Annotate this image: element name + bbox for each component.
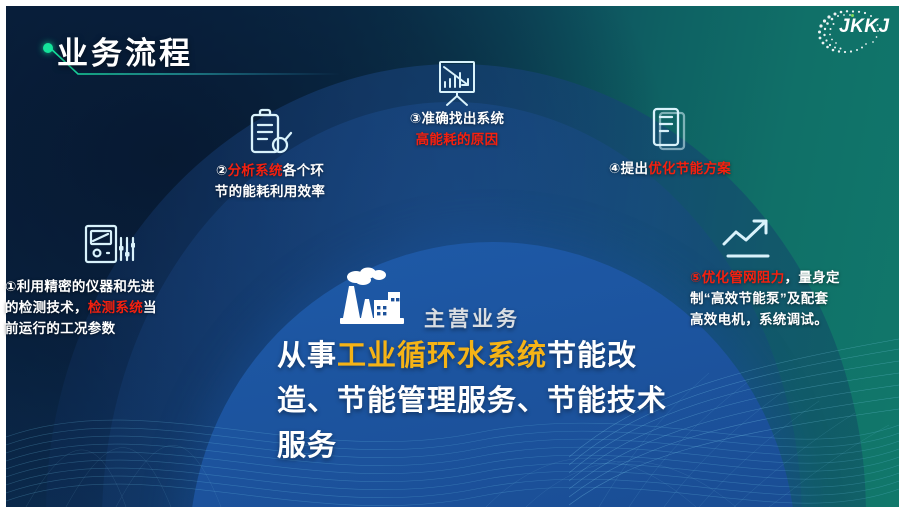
step-5-line1: ，量身定 (785, 270, 840, 285)
step-2-marker: ② (216, 163, 228, 178)
step-5-line2: 制“高效节能泵”及配套 (690, 291, 828, 306)
business-text-part1: 从事 (277, 340, 337, 372)
step-3-text: ③准确找出系统 高能耗的原因 (362, 108, 552, 150)
step-1-text: ①利用精密的仪器和先进 的检测技术，检测系统当 前运行的工况参数 (5, 276, 220, 339)
step-3-marker: ③ (410, 111, 422, 126)
step-4-marker: ④ (609, 161, 621, 176)
step-3-highlight: 高能耗的原因 (416, 132, 499, 147)
business-text-highlight: 工业循环水系统 (337, 340, 547, 372)
logo-accent-dot (851, 14, 854, 17)
clipboard-search-icon (245, 108, 295, 160)
page-title: 业务流程 (57, 28, 193, 73)
step-5-marker: ⑤ (690, 270, 702, 285)
trending-up-arrow-icon (720, 218, 782, 262)
business-description: 从事工业循环水系统节能改造、节能管理服务、节能技术服务 (277, 334, 677, 469)
bar-chart-board-icon (432, 60, 482, 108)
business-label: 主营业务 (424, 303, 520, 333)
step-1-line3: 前运行的工况参数 (5, 321, 115, 336)
step-2-text: ②分析系统各个环 节的能耗利用效率 (175, 160, 365, 202)
slide-canvas: JKKJ 业务流程 (0, 0, 905, 513)
step-3-line1: 准确找出系统 (421, 111, 504, 126)
step-1-highlight: 检测系统 (88, 300, 143, 315)
step-5-line3: 高效电机，系统调试。 (690, 312, 828, 327)
step-2-line1: 各个环 (283, 163, 324, 178)
factory-icon (330, 266, 420, 328)
step-2-line2: 节的能耗利用效率 (215, 184, 325, 199)
step-4-line1: 提出 (621, 161, 649, 176)
documents-icon (646, 106, 694, 158)
step-1-line1: 利用精密的仪器和先进 (17, 279, 155, 294)
measuring-instrument-icon (83, 222, 135, 270)
step-item-3[interactable]: ③准确找出系统 高能耗的原因 (362, 60, 552, 150)
step-1-line2b: 当 (143, 300, 157, 315)
heading-accent-dot (43, 43, 53, 53)
logo-wordmark: JKKJ (839, 17, 890, 36)
step-1-marker: ① (5, 279, 17, 294)
brand-logo: JKKJ (809, 6, 891, 56)
step-item-1[interactable]: ①利用精密的仪器和先进 的检测技术，检测系统当 前运行的工况参数 (5, 222, 220, 339)
step-1-line2a: 的检测技术， (5, 300, 88, 315)
step-4-text: ④提出优化节能方案 (570, 158, 770, 179)
step-item-5[interactable]: ⑤优化管网阻力，量身定 制“高效节能泵”及配套 高效电机，系统调试。 (690, 218, 902, 330)
step-5-highlight: 优化管网阻力 (702, 270, 785, 285)
step-5-text: ⑤优化管网阻力，量身定 制“高效节能泵”及配套 高效电机，系统调试。 (690, 267, 902, 330)
step-4-highlight: 优化节能方案 (648, 161, 731, 176)
step-item-4[interactable]: ④提出优化节能方案 (570, 106, 770, 179)
step-item-2[interactable]: ②分析系统各个环 节的能耗利用效率 (175, 108, 365, 202)
step-2-highlight: 分析系统 (228, 163, 283, 178)
